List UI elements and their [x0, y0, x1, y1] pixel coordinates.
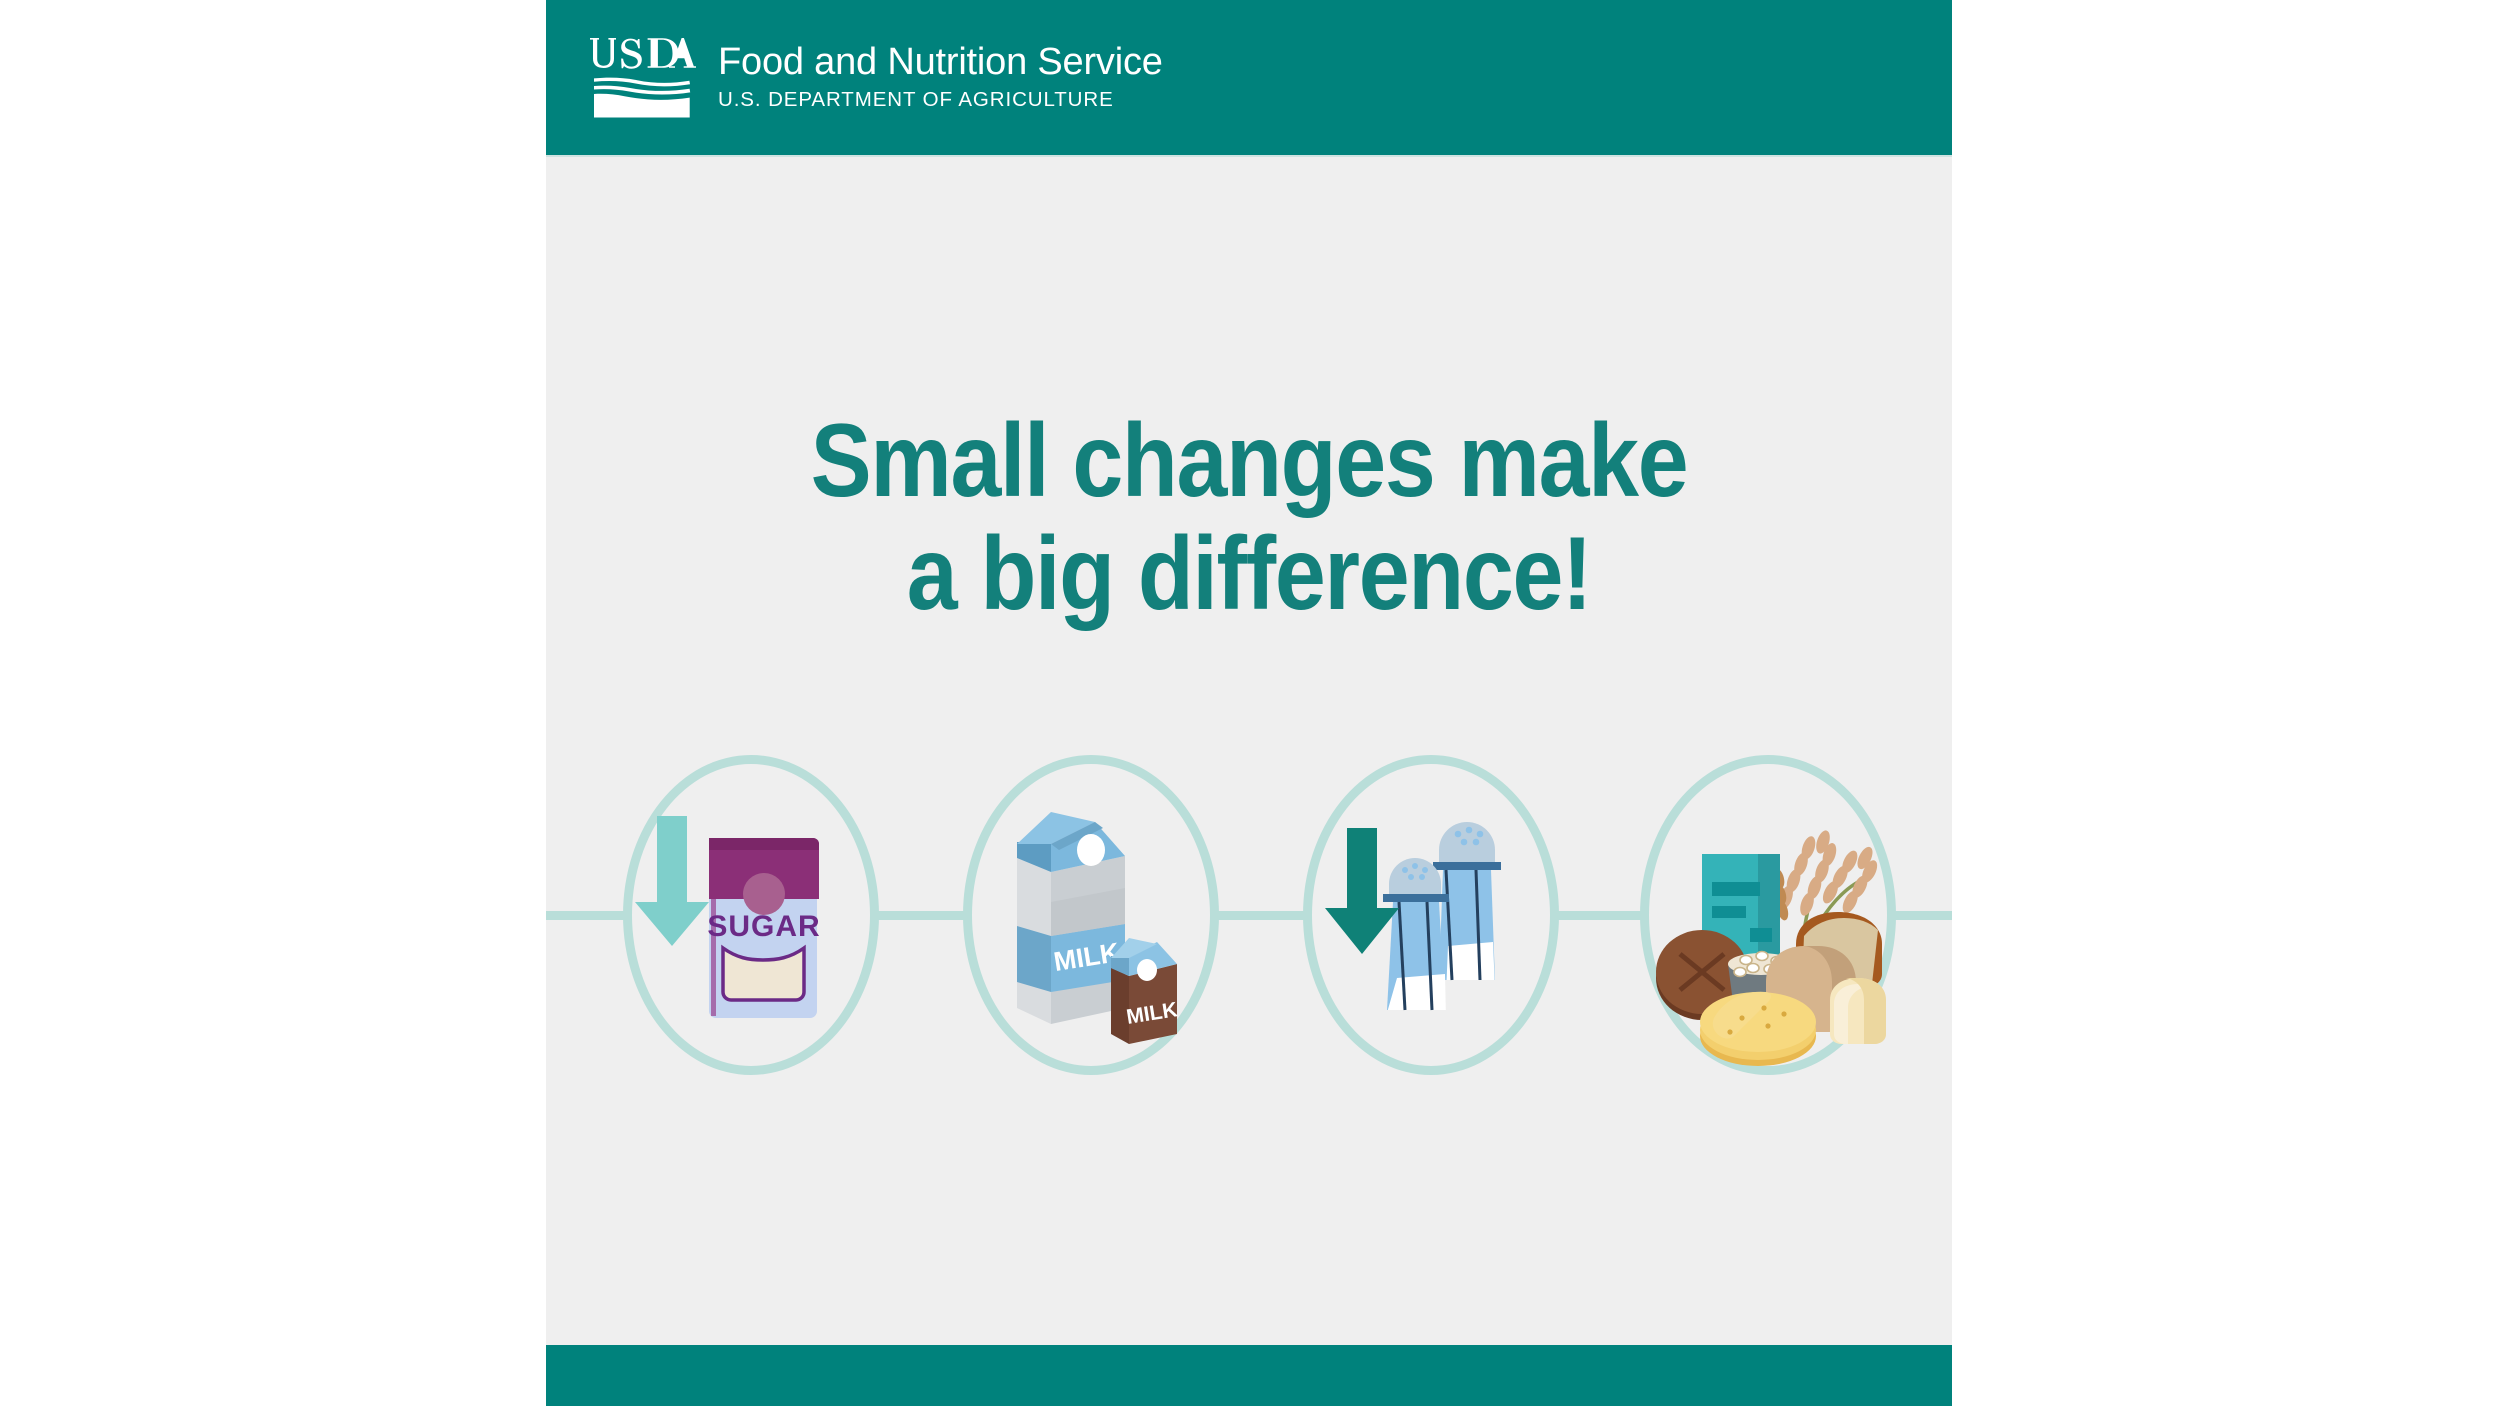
agency-text-block: Food and Nutrition Service U.S. DEPARTME… — [718, 40, 1163, 115]
svg-text:SUGAR: SUGAR — [707, 910, 820, 943]
strip-node-whole-grains[interactable] — [1618, 750, 1918, 1080]
usda-logo — [588, 34, 696, 122]
page-title: Small changes make a big difference! — [630, 405, 1867, 631]
agency-name: Food and Nutrition Service — [718, 40, 1163, 84]
header-divider — [546, 155, 1952, 157]
strip-node-low-fat-milk[interactable]: MILK MILK — [941, 750, 1241, 1080]
screenshot-canvas: Food and Nutrition Service U.S. DEPARTME… — [0, 0, 2500, 1406]
strip-node-reduce-sodium[interactable] — [1281, 750, 1581, 1080]
headline-line-2: a big difference! — [630, 518, 1867, 631]
salt-and-pepper-shakers-with-down-arrow-icon — [1281, 750, 1581, 1080]
icon-strip: SUGAR — [546, 750, 1952, 1080]
department-name: U.S. DEPARTMENT OF AGRICULTURE — [718, 87, 1163, 113]
usda-header-bar: Food and Nutrition Service U.S. DEPARTME… — [546, 0, 1952, 155]
whole-grain-foods-icon — [1618, 750, 1918, 1080]
sugar-bag-with-down-arrow-icon: SUGAR — [601, 750, 901, 1080]
strip-node-reduce-sugar[interactable]: SUGAR — [601, 750, 901, 1080]
infographic-panel: Food and Nutrition Service U.S. DEPARTME… — [546, 0, 1952, 1406]
headline-line-1: Small changes make — [811, 403, 1688, 519]
footer-bar — [546, 1345, 1952, 1406]
milk-cartons-icon: MILK MILK — [941, 750, 1241, 1080]
